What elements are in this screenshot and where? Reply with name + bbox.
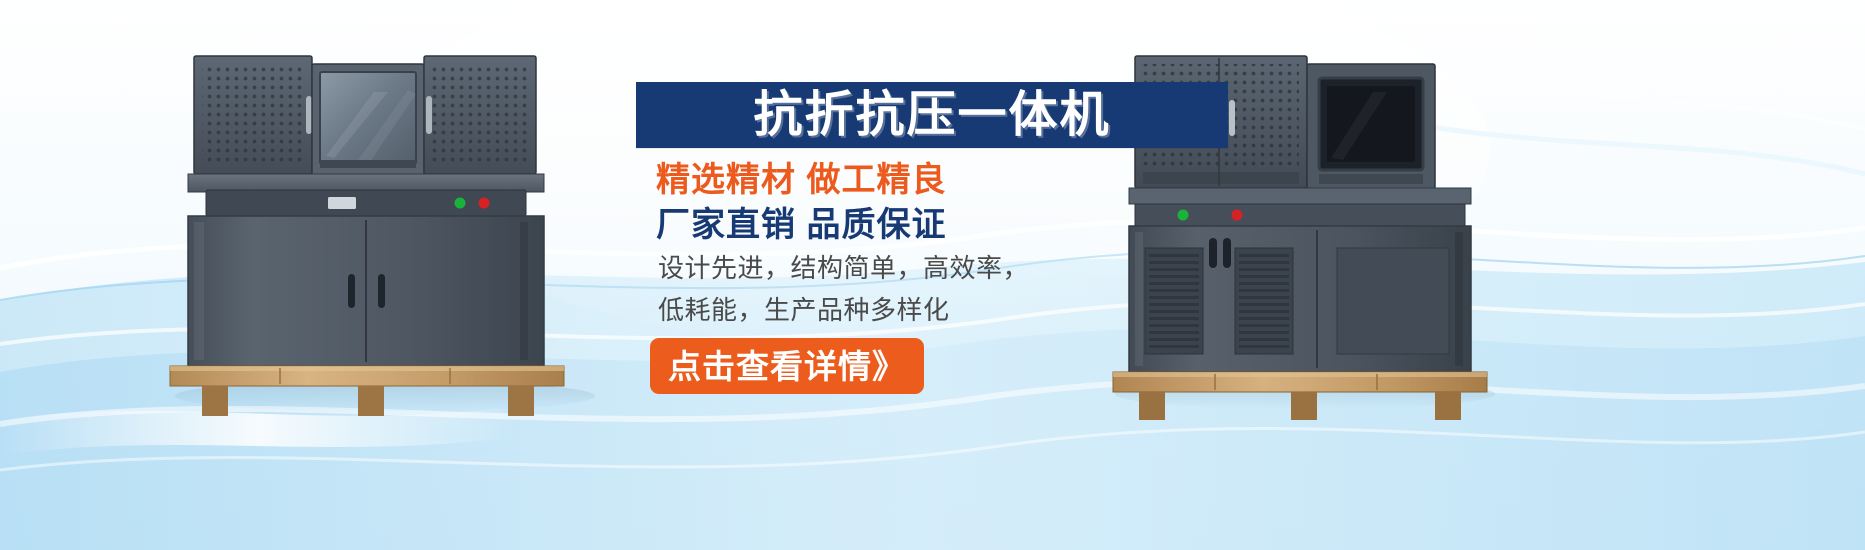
control-strip (206, 190, 526, 216)
subtitle-line-2: 厂家直销 品质保证 (656, 208, 946, 242)
description-line-2: 低耗能，生产品种多样化 (658, 297, 950, 323)
cabinet-handle-left (348, 274, 355, 308)
banner-title-bar: 抗折抗压一体机 (636, 82, 1228, 148)
cabinet-handle-right (378, 274, 385, 308)
center-display-window (312, 64, 424, 176)
left-upper-door-panel (194, 56, 312, 174)
indicator-light-red (479, 198, 490, 209)
description-line-1: 设计先进，结构简单，高效率， (658, 255, 1029, 281)
view-details-button[interactable]: 点击查看详情》 (650, 338, 924, 394)
product-image-left (160, 38, 600, 428)
page-title: 抗折抗压一体机 (753, 91, 1110, 140)
monitor-enclosure (1307, 64, 1435, 194)
right-upper-door-panel (424, 56, 536, 174)
banner-text-block: 抗折抗压一体机 精选精材 做工精良 厂家直销 品质保证 设计先进，结构简单，高效… (620, 60, 1240, 480)
subtitle-line-1: 精选精材 做工精良 (656, 163, 946, 197)
indicator-light-green (455, 198, 466, 209)
promo-banner: 抗折抗压一体机 精选精材 做工精良 厂家直销 品质保证 设计先进，结构简单，高效… (0, 0, 1865, 550)
view-details-label: 点击查看详情》 (668, 350, 906, 383)
